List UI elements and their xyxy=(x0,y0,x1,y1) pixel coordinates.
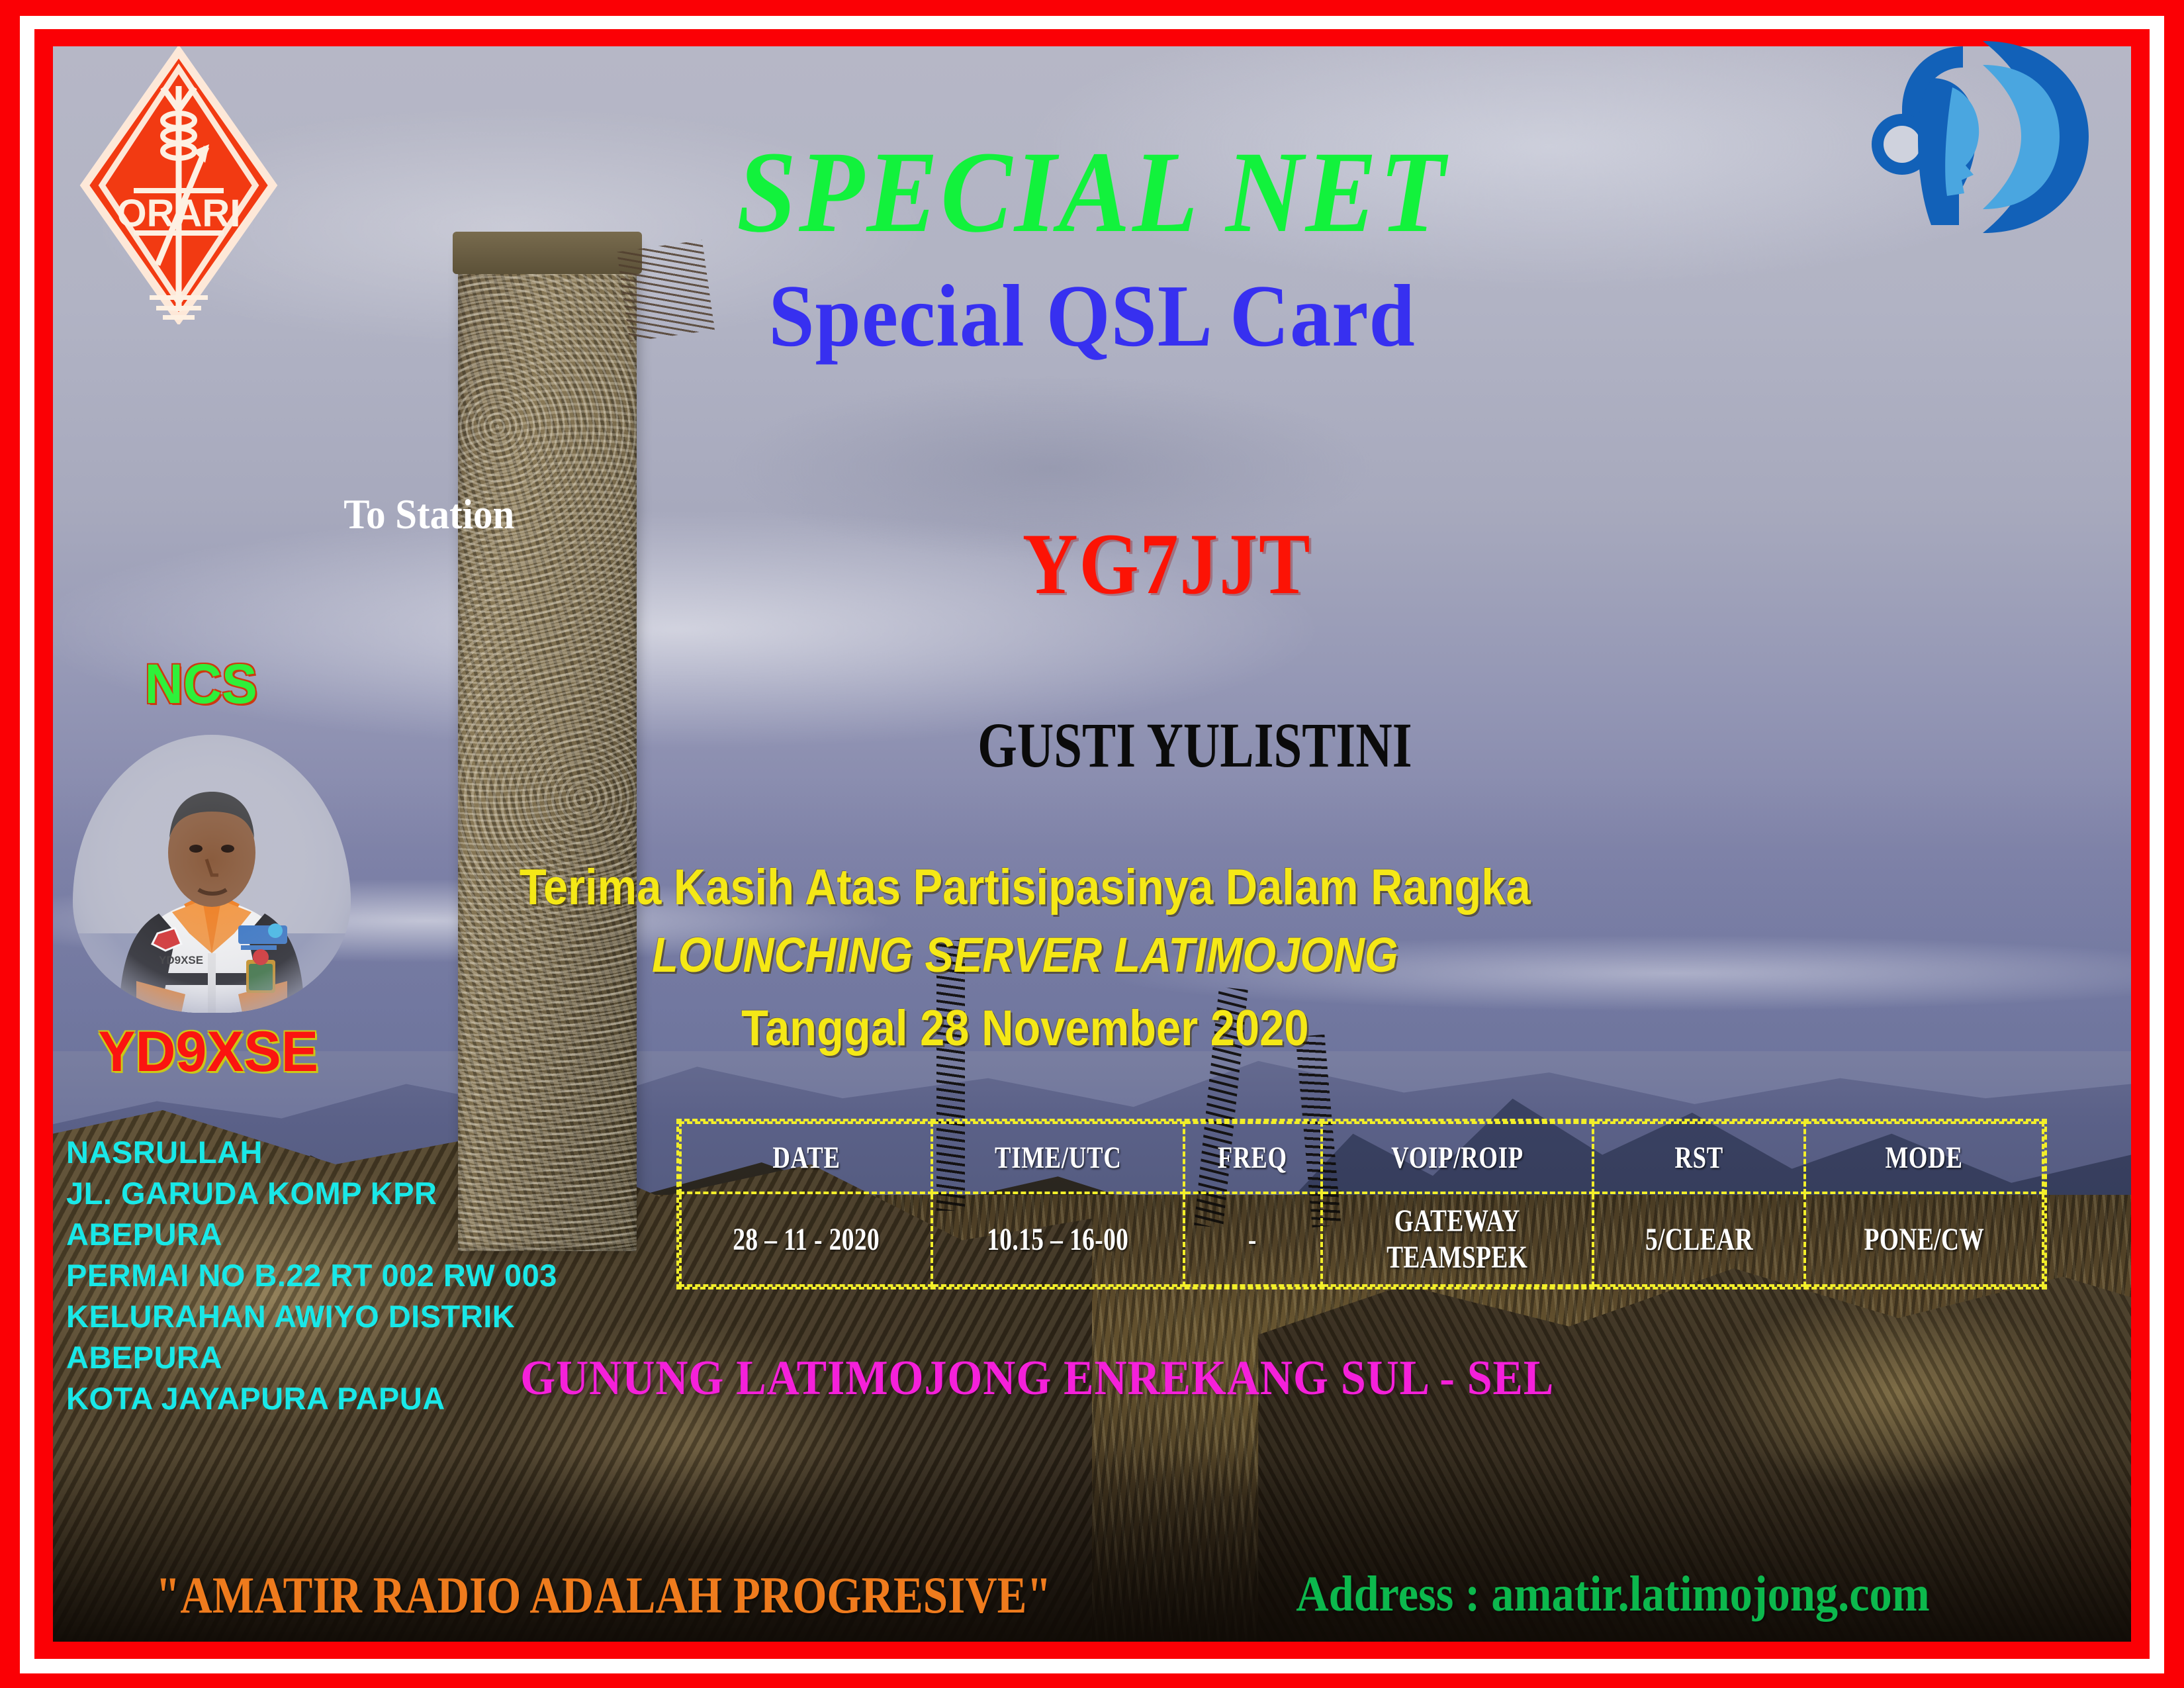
column-header-freq: FREQ xyxy=(1184,1123,1322,1193)
cell-mode: PONE/CW xyxy=(1805,1193,2043,1286)
page-subtitle: Special QSL Card xyxy=(77,265,2108,367)
address-line: PERMAI NO B.22 RT 002 RW 003 xyxy=(66,1255,635,1296)
photo-stone-cairn xyxy=(458,246,637,1250)
club-motto: "AMATIR RADIO ADALAH PROGRESIVE" xyxy=(156,1566,1051,1625)
ncs-label: NCS xyxy=(145,652,257,716)
qsl-card: ORARI SPECIAL NET Special QSL Card To St… xyxy=(0,0,2184,1688)
to-station-label: To Station xyxy=(343,490,514,539)
column-header-voip: VOIP/ROIP xyxy=(1322,1123,1594,1193)
recipient-callsign: YG7JJT xyxy=(1023,513,1312,614)
page-title: SPECIAL NET xyxy=(87,126,2097,259)
operator-name: GUSTI YULISTINI xyxy=(978,708,1412,782)
cell-voip: GATEWAY TEAMSPEK xyxy=(1322,1193,1594,1286)
column-header-time: TIME/UTC xyxy=(932,1123,1183,1193)
column-header-date: DATE xyxy=(680,1123,932,1193)
web-address: Address : amatir.latimojong.com xyxy=(1296,1566,1930,1623)
qso-details-table: DATE TIME/UTC FREQ VOIP/ROIP RST MODE 28… xyxy=(676,1119,2047,1289)
cell-rst: 5/CLEAR xyxy=(1593,1193,1805,1286)
event-location: GUNUNG LATIMOJONG ENREKANG SUL - SEL xyxy=(87,1350,2097,1407)
cell-freq: - xyxy=(1184,1193,1322,1286)
table-row: 28 – 11 - 2020 10.15 – 16-00 - GATEWAY T… xyxy=(680,1193,2043,1286)
column-header-rst: RST xyxy=(1593,1123,1805,1193)
cell-date: 28 – 11 - 2020 xyxy=(680,1193,932,1286)
column-header-mode: MODE xyxy=(1805,1123,2043,1193)
cell-time: 10.15 – 16-00 xyxy=(932,1193,1183,1286)
ncs-callsign: YD9XSE xyxy=(98,1019,318,1085)
table-header-row: DATE TIME/UTC FREQ VOIP/ROIP RST MODE xyxy=(680,1123,2043,1193)
event-date-line: Tanggal 28 November 2020 xyxy=(131,1000,2053,1057)
address-line: NASRULLAH xyxy=(66,1132,635,1173)
thanks-line-1: Terima Kasih Atas Partisipasinya Dalam R… xyxy=(131,859,2053,916)
address-line: JL. GARUDA KOMP KPR xyxy=(66,1173,635,1214)
address-line: KELURAHAN AWIYO DISTRIK xyxy=(66,1296,635,1337)
address-line: ABEPURA xyxy=(66,1214,635,1255)
thanks-line-2: LOUNCHING SERVER LATIMOJONG xyxy=(131,927,2053,983)
